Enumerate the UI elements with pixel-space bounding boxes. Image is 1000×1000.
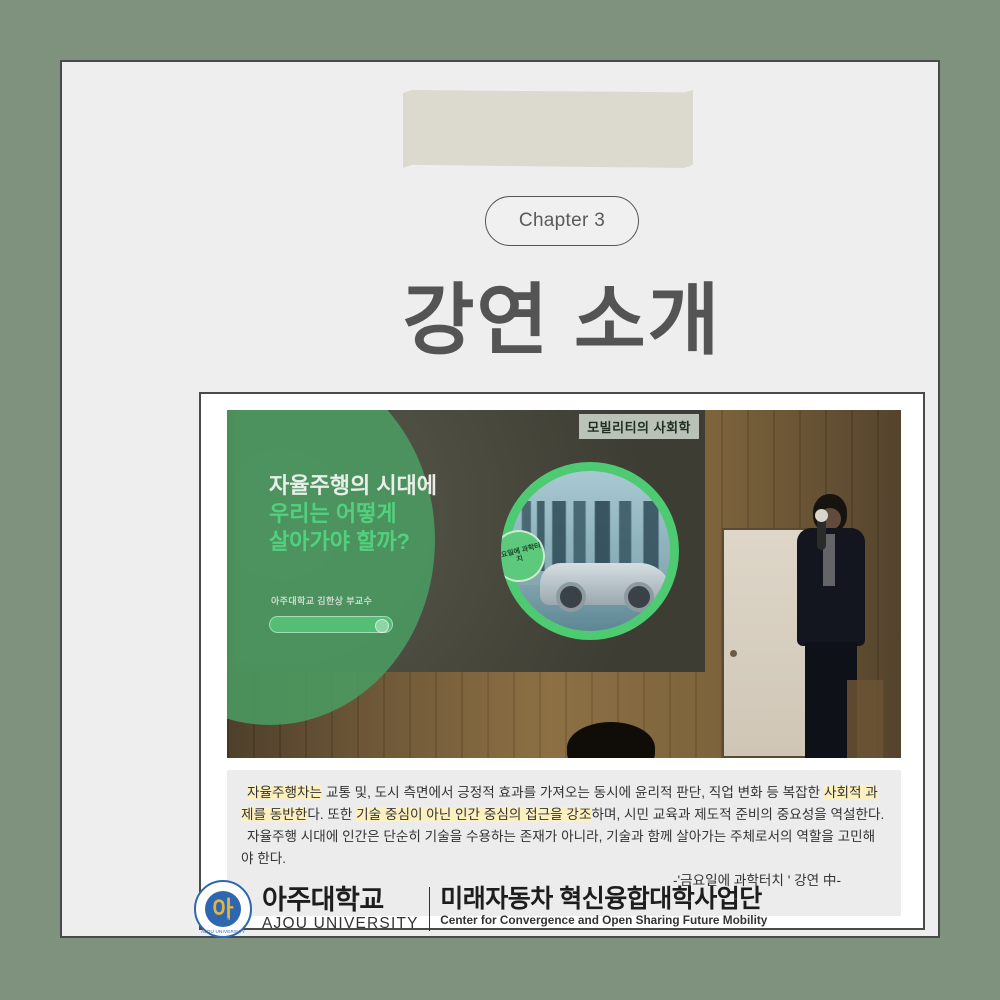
chapter-label: Chapter 3: [519, 210, 605, 232]
caption-highlight-3: 기술 중심이 아닌 인간 중심의 접근을 강조: [356, 807, 591, 822]
caption-text-2: 자율주행 시대에 인간은 단순히 기술을 수용하는 존재가 아니라, 기술과 함…: [241, 829, 875, 866]
slide-program-badge: 금요일에 과학터치: [501, 524, 551, 587]
slide-presenter-credit: 아주대학교 김한상 부교수: [271, 594, 372, 607]
footer-text-block: 아주대학교 AJOU UNIVERSITY 미래자동차 혁신융합대학사업단 Ce…: [262, 885, 767, 934]
washi-tape-decoration: [403, 90, 693, 168]
footer-logo-lockup: 아 1973 AJOU UNIVERSITY 아주대학교 AJOU UNIVER…: [194, 878, 814, 940]
slide-title-line-3: 살아가야 할까?: [269, 528, 437, 556]
footer-center: 미래자동차 혁신융합대학사업단 Center for Convergence a…: [440, 885, 767, 934]
caption-paragraph-1: 자율주행차는 교통 및, 도시 측면에서 긍정적 효과를 가져오는 동시에 윤리…: [241, 782, 887, 826]
slide-header-text: 모빌리티의 사회학: [579, 414, 699, 439]
page-title: 강연 소개: [62, 258, 1000, 370]
seal-year: 1973: [196, 918, 250, 924]
footer-university-en: AJOU UNIVERSITY: [262, 915, 419, 934]
caption-text-1a: 교통 및, 도시 측면에서 긍정적 효과를 가져오는 동시에 윤리적 판단, 직…: [322, 785, 824, 800]
podium: [847, 680, 883, 758]
microphone-icon: [817, 516, 826, 550]
footer-center-ko: 미래자동차 혁신융합대학사업단: [440, 885, 767, 913]
caption-text-1b: 다. 또한: [307, 807, 356, 822]
footer-university-ko: 아주대학교: [262, 885, 419, 915]
caption-paragraph-2: 자율주행 시대에 인간은 단순히 기술을 수용하는 존재가 아니라, 기술과 함…: [241, 826, 887, 870]
footer-center-en: Center for Convergence and Open Sharing …: [440, 913, 767, 927]
caption-text-1c: 하며, 시민 교육과 제도적 준비의 중요성을 역설한다.: [591, 807, 884, 822]
lecture-photo: 모빌리티의 사회학 자율주행의 시대에 우리는 어떻게 살아가야 할까? 아주대…: [227, 410, 901, 758]
seal-ring-text: AJOU UNIVERSITY: [196, 929, 250, 934]
slide-title-line-1: 자율주행의 시대에: [269, 472, 437, 500]
chapter-badge: Chapter 3: [485, 196, 639, 246]
footer-divider: [429, 887, 431, 932]
projection-screen: 모빌리티의 사회학 자율주행의 시대에 우리는 어떻게 살아가야 할까? 아주대…: [235, 410, 705, 672]
slide-title-line-2: 우리는 어떻게: [269, 500, 437, 528]
ajou-university-seal-icon: 아 1973 AJOU UNIVERSITY: [194, 880, 252, 938]
content-card: 모빌리티의 사회학 자율주행의 시대에 우리는 어떻게 살아가야 할까? 아주대…: [199, 392, 925, 930]
footer-university: 아주대학교 AJOU UNIVERSITY: [262, 885, 429, 934]
caption-highlight-1: 자율주행차는: [247, 785, 322, 800]
slide-title: 자율주행의 시대에 우리는 어떻게 살아가야 할까?: [269, 472, 437, 556]
slide-search-bar-graphic: [269, 616, 393, 633]
poster-frame: Chapter 3 강연 소개 모빌리티의 사회학 자율주행의 시대에 우리는 …: [60, 60, 940, 938]
